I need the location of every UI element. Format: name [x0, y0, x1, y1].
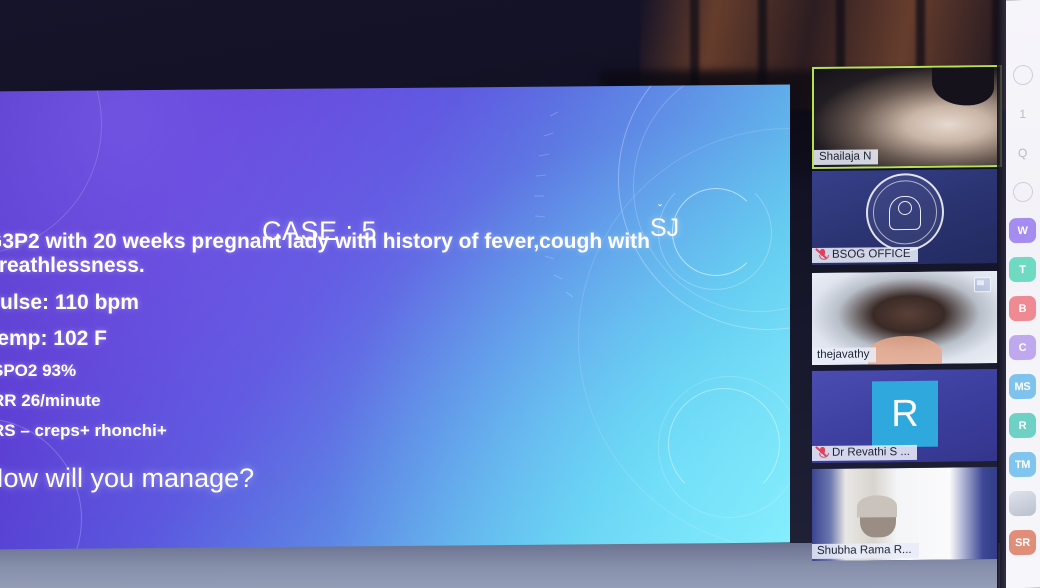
- slide-line: Temp: 102 F: [0, 327, 706, 351]
- rail-item-c[interactable]: C: [1009, 335, 1036, 360]
- circle-icon: [1013, 64, 1033, 84]
- slide-line: SPO2 93%: [0, 361, 706, 381]
- pin-window-icon[interactable]: [974, 277, 991, 292]
- bsog-logo-icon: [866, 173, 944, 252]
- slide-line: RS – creps+ rhonchi+: [0, 421, 706, 441]
- participant-tile-shubha-rama-r[interactable]: Shubha Rama R...: [812, 467, 998, 561]
- rail-item-photo-icon[interactable]: [1009, 491, 1036, 516]
- mic-muted-icon: [817, 249, 828, 261]
- participant-name: Shubha Rama R...: [817, 544, 912, 557]
- participant-name-badge: Shubha Rama R...: [812, 543, 919, 559]
- participant-tile-bsog-office[interactable]: BSOG OFFICE: [812, 169, 998, 265]
- monitor-bezel: [997, 0, 1006, 588]
- presentation-slide[interactable]: CASE : 5 ˇ SJ G3P2 with 20 weeks pregnan…: [0, 85, 790, 550]
- slide-line: breathlessness.: [0, 254, 706, 278]
- participant-name: thejavathy: [817, 348, 869, 361]
- screen-photo-scene: CASE : 5 ˇ SJ G3P2 with 20 weeks pregnan…: [0, 0, 1040, 588]
- participant-tile-dr-revathi-s[interactable]: R Dr Revathi S ...: [812, 369, 998, 463]
- caret-icon: ˇ: [658, 202, 662, 216]
- circle-icon: [1013, 181, 1033, 201]
- slide-line: RR 26/minute: [0, 391, 706, 411]
- rail-item-ms[interactable]: MS: [1009, 374, 1036, 399]
- rail-item-r[interactable]: R: [1009, 413, 1036, 438]
- participant-name: BSOG OFFICE: [832, 248, 911, 261]
- rail-item-1[interactable]: 1: [1009, 101, 1036, 126]
- slide-question: How will you manage?: [0, 463, 254, 494]
- app-icon-rail[interactable]: 1QWTBCMSRTMSR: [1006, 0, 1040, 588]
- rail-item-b[interactable]: B: [1009, 296, 1036, 321]
- slide-line: Pulse: 110 bpm: [0, 291, 706, 315]
- rail-item-circle[interactable]: [1009, 179, 1036, 204]
- rail-item-w[interactable]: W: [1009, 218, 1036, 243]
- participant-name-badge: BSOG OFFICE: [812, 247, 918, 263]
- rail-item-sr[interactable]: SR: [1009, 530, 1036, 555]
- participant-name: Dr Revathi S ...: [832, 446, 910, 459]
- participant-name-badge: thejavathy: [812, 347, 876, 363]
- rail-item-q[interactable]: Q: [1009, 140, 1036, 165]
- participant-tile-thejavathy[interactable]: thejavathy: [812, 271, 998, 365]
- mic-muted-icon: [817, 447, 828, 459]
- slide-body: G3P2 with 20 weeks pregnant lady with hi…: [0, 230, 706, 441]
- participant-filmstrip[interactable]: Shailaja N BSOG OFFICE thejavathy R: [812, 65, 1004, 562]
- slide-line: G3P2 with 20 weeks pregnant lady with hi…: [0, 230, 706, 254]
- rail-item-circle[interactable]: [1009, 62, 1036, 87]
- participant-name-badge: Dr Revathi S ...: [812, 445, 917, 461]
- participant-tile-shailaja-n[interactable]: Shailaja N: [812, 65, 1002, 169]
- rail-item-tm[interactable]: TM: [1009, 452, 1036, 477]
- rail-item-t[interactable]: T: [1009, 257, 1036, 282]
- participant-name-badge: Shailaja N: [814, 149, 878, 165]
- avatar: R: [872, 381, 938, 448]
- participant-name: Shailaja N: [819, 150, 871, 163]
